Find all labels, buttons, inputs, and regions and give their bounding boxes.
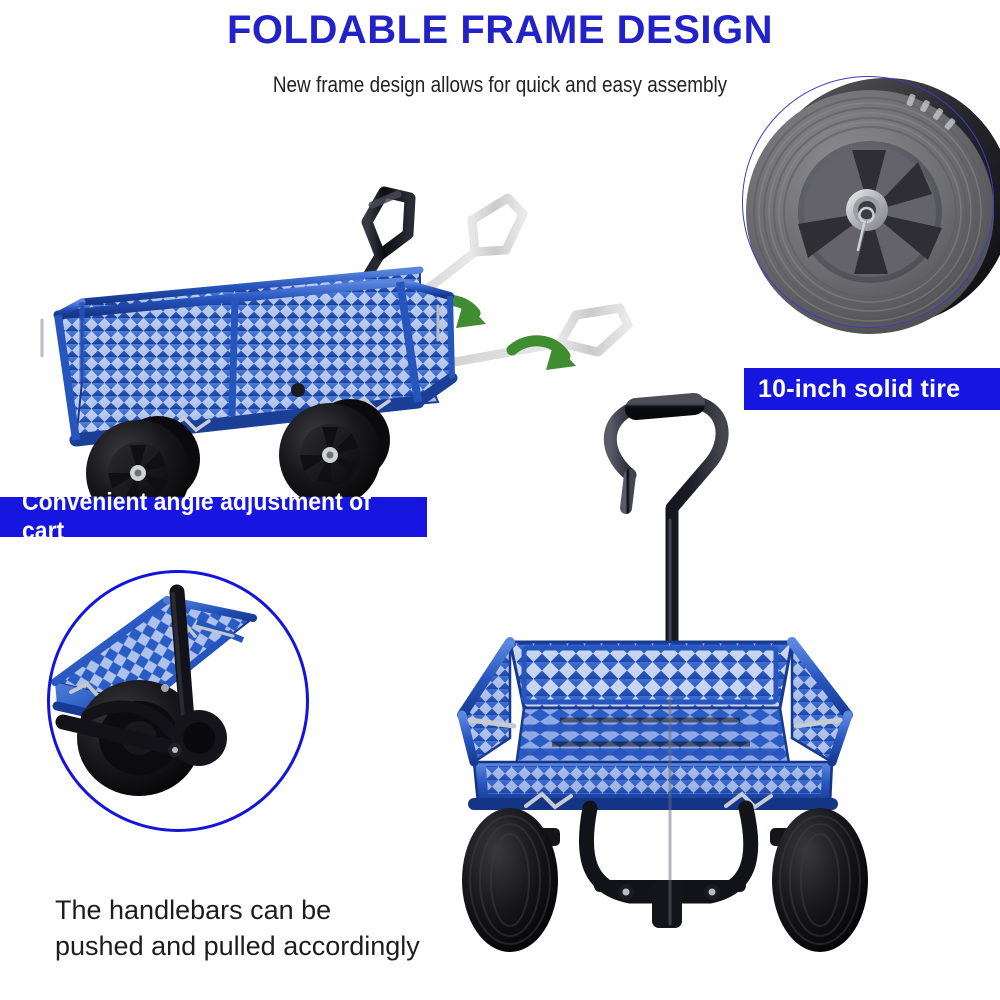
front-wheel-left (462, 808, 558, 952)
banner-angle-text: Convenient angle adjustment of cart (22, 488, 395, 546)
front-axle-assembly (532, 808, 798, 928)
tire-callout-circle (742, 76, 994, 328)
wagon-front-view-illustration (440, 390, 870, 980)
page-title: FOLDABLE FRAME DESIGN (0, 8, 1000, 53)
infographic-page: FOLDABLE FRAME DESIGN New frame design a… (0, 0, 1000, 1000)
caption-handlebars: The handlebars can be pushed and pulled … (55, 893, 455, 964)
handle-pivot-callout-circle (47, 570, 309, 832)
wagon-side-body (42, 270, 452, 440)
status-badge-angle-adjustment: Convenient angle adjustment of cart (0, 497, 427, 537)
caption-handlebars-line2: pushed and pulled accordingly (55, 929, 455, 965)
front-cart-body (462, 642, 848, 807)
caption-handlebars-line1: The handlebars can be (55, 893, 455, 929)
front-wheel-right (772, 808, 868, 952)
